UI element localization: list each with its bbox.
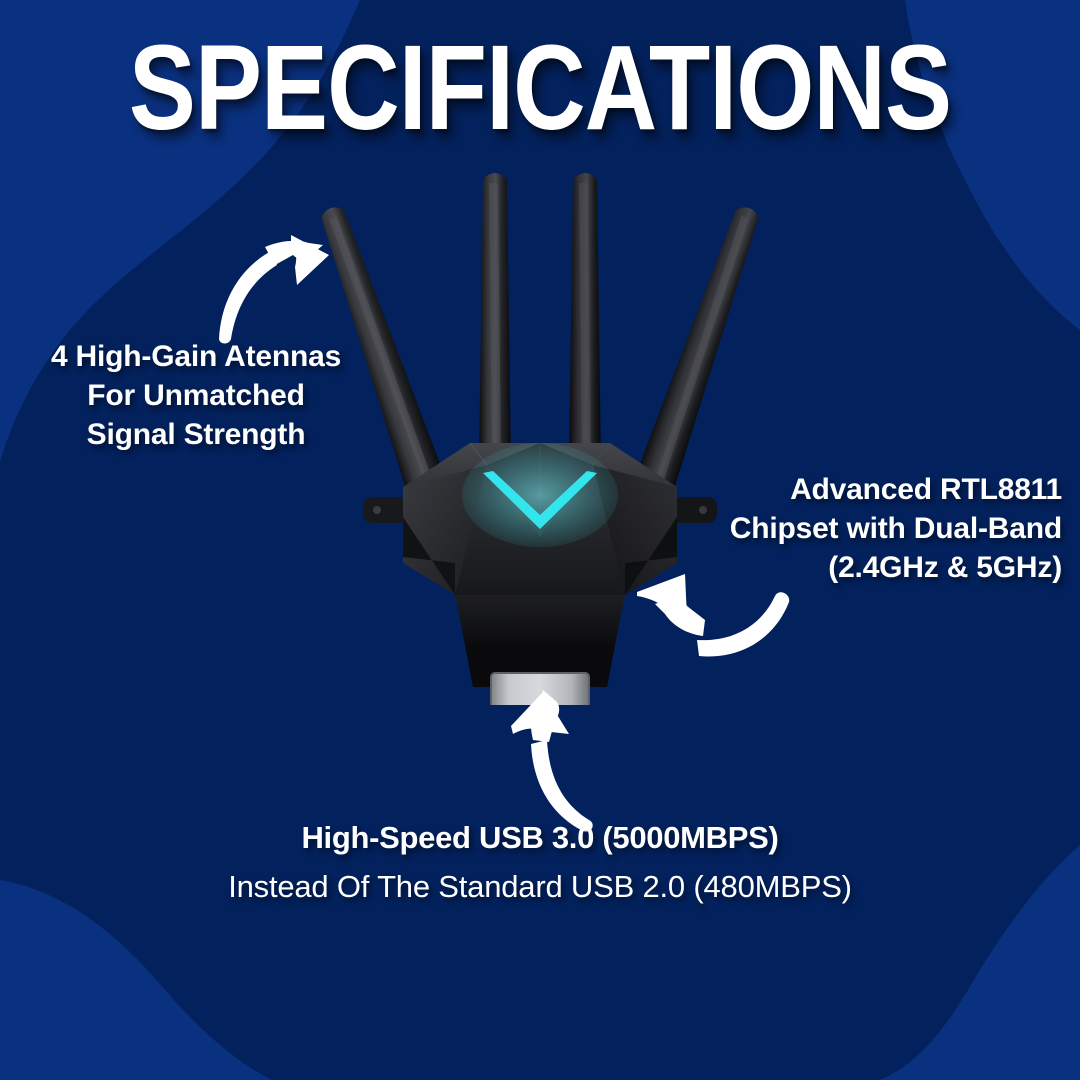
callout-chipset-line-1: Advanced RTL8811 xyxy=(482,470,1062,509)
antenna-inner-left xyxy=(479,173,511,471)
callout-antennas-line-2: For Unmatched xyxy=(0,376,392,415)
callout-antennas-line-3: Signal Strength xyxy=(0,415,392,454)
callout-antennas-line-1: 4 High-Gain Atennas xyxy=(0,337,392,376)
callout-chipset-line-2: Chipset with Dual-Band xyxy=(482,509,1062,548)
callout-chipset-line-3: (2.4GHz & 5GHz) xyxy=(482,548,1062,587)
callout-usb-speed: High-Speed USB 3.0 (5000MBPS) Instead Of… xyxy=(0,818,1080,908)
specifications-infographic: SPECIFICATIONS xyxy=(0,0,1080,1080)
callout-antennas: 4 High-Gain Atennas For Unmatched Signal… xyxy=(0,337,392,454)
antenna-inner-right xyxy=(569,173,601,471)
callout-chipset: Advanced RTL8811 Chipset with Dual-Band … xyxy=(482,470,1062,587)
callout-usb-main: High-Speed USB 3.0 (5000MBPS) xyxy=(0,818,1080,858)
curved-arrow-up-icon xyxy=(473,688,613,836)
curved-arrow-up-right-icon xyxy=(205,225,355,345)
callout-usb-sub: Instead Of The Standard USB 2.0 (480MBPS… xyxy=(0,867,1080,907)
antenna-outer-right xyxy=(626,201,769,513)
page-title: SPECIFICATIONS xyxy=(38,27,1042,148)
